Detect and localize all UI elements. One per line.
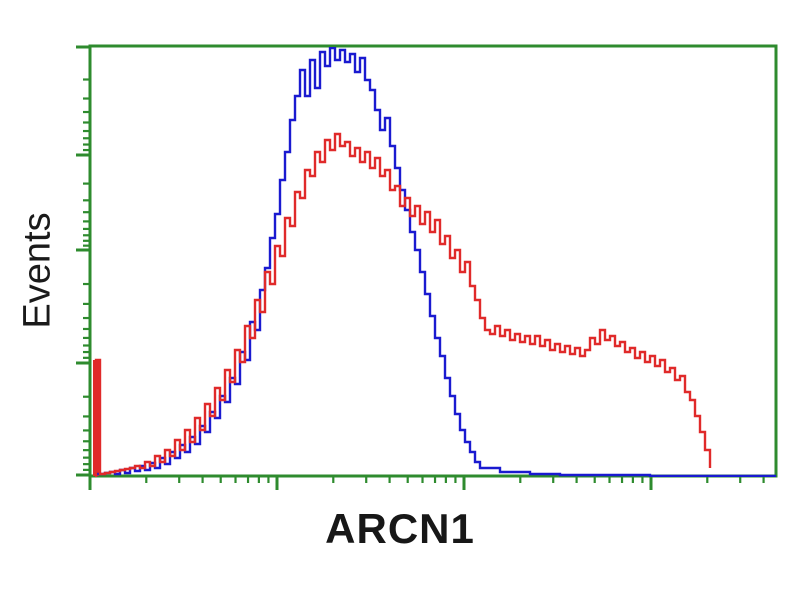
plot-frame-box <box>90 46 776 476</box>
series-inner <box>95 48 776 476</box>
series-blue-trace <box>95 48 776 476</box>
flow-cytometry-figure: Events ARCN1 <box>0 0 800 600</box>
series-red-trace <box>95 134 710 476</box>
y-axis-ticks <box>76 47 90 475</box>
x-axis-ticks <box>90 476 764 490</box>
axes-frame <box>90 46 776 476</box>
x-axis-label-text: ARCN1 <box>325 505 475 552</box>
data-series-layer <box>95 48 776 476</box>
x-axis-label: ARCN1 <box>0 505 800 553</box>
